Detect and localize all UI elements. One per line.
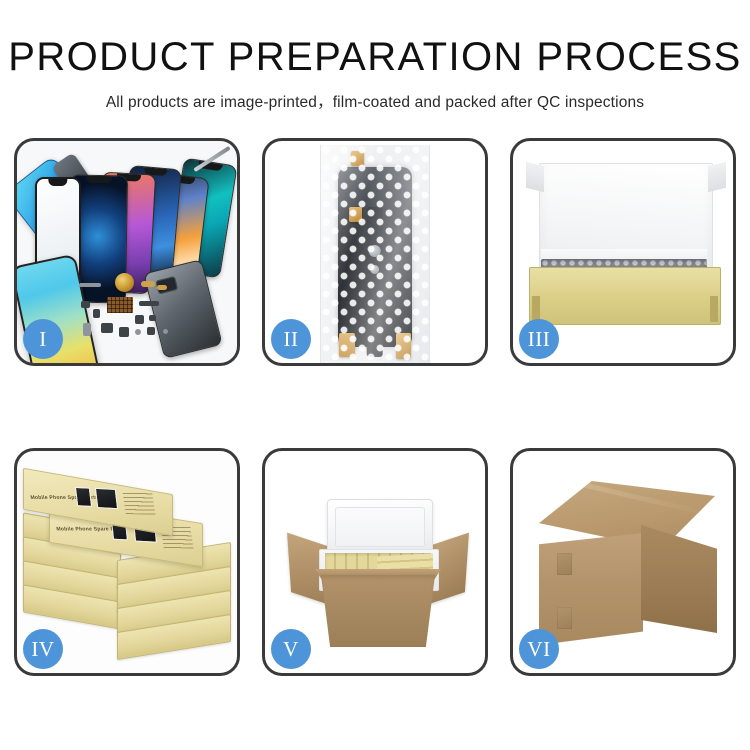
connector-strip-part bbox=[79, 283, 101, 287]
spare-parts-cluster bbox=[79, 271, 207, 357]
process-step-4[interactable]: Mobile Phone Spare Parts Mobile Phone Sp… bbox=[14, 448, 240, 676]
sensor-part bbox=[93, 309, 100, 318]
step-badge-3: III bbox=[519, 319, 559, 359]
tape-piece-top bbox=[351, 151, 364, 166]
sim-tray-part bbox=[83, 323, 91, 336]
sealed-shipping-carton bbox=[535, 481, 721, 653]
camera-module-part bbox=[135, 315, 144, 324]
step-badge-6: VI bbox=[519, 629, 559, 669]
process-step-5[interactable]: V bbox=[262, 448, 488, 676]
carton-side-face bbox=[641, 525, 717, 633]
cable-connector-dot-2 bbox=[370, 265, 379, 274]
page-title: PRODUCT PREPARATION PROCESS bbox=[0, 36, 750, 78]
chip-grid-part bbox=[107, 297, 133, 313]
screw-part bbox=[135, 329, 141, 335]
process-step-6[interactable]: VI bbox=[510, 448, 736, 676]
step-badge-5: V bbox=[271, 629, 311, 669]
open-shipping-carton bbox=[291, 499, 463, 655]
small-ic-part bbox=[81, 301, 90, 308]
tape-piece-bottom-left bbox=[339, 333, 355, 357]
antenna-part bbox=[119, 327, 129, 337]
vibrator-part bbox=[101, 323, 113, 333]
tape-piece-mid bbox=[349, 207, 362, 222]
step-badge-1: I bbox=[23, 319, 63, 359]
step-badge-4: IV bbox=[23, 629, 63, 669]
button-part bbox=[149, 315, 156, 321]
process-step-2[interactable]: II bbox=[262, 138, 488, 366]
box-tray-base bbox=[529, 267, 721, 325]
process-step-grid: I II bbox=[14, 138, 736, 676]
tape-piece-bottom-right bbox=[396, 333, 411, 359]
process-step-3[interactable]: III bbox=[510, 138, 736, 366]
page-header: PRODUCT PREPARATION PROCESS All products… bbox=[0, 0, 750, 112]
mic-part bbox=[147, 327, 155, 335]
carton-front-face bbox=[539, 533, 643, 645]
box-spec-lines-1 bbox=[122, 492, 155, 515]
cable-connector-dot bbox=[369, 245, 381, 257]
open-inner-box bbox=[529, 163, 719, 333]
flex-ribbon-part bbox=[139, 301, 159, 306]
speaker-coil-part bbox=[115, 273, 134, 292]
bubble-wrap-bag bbox=[320, 145, 430, 363]
flex-cable bbox=[367, 207, 383, 357]
box-thumb-a1 bbox=[75, 487, 92, 507]
carton-top-seam bbox=[570, 480, 706, 516]
box-tab-right bbox=[710, 296, 718, 322]
box-thumb-b1 bbox=[95, 488, 118, 509]
carton-front-face bbox=[321, 575, 435, 647]
screw-part-2 bbox=[163, 329, 168, 334]
carton-tape-lower bbox=[557, 607, 572, 629]
process-step-1[interactable]: I bbox=[14, 138, 240, 366]
foam-box-lid bbox=[327, 499, 433, 555]
gold-bracket-part bbox=[157, 285, 167, 290]
page-subtitle: All products are image-printed，film-coat… bbox=[0, 90, 750, 112]
carton-tape-upper bbox=[557, 553, 572, 575]
step-badge-2: II bbox=[271, 319, 311, 359]
gold-clip-part bbox=[141, 281, 155, 287]
